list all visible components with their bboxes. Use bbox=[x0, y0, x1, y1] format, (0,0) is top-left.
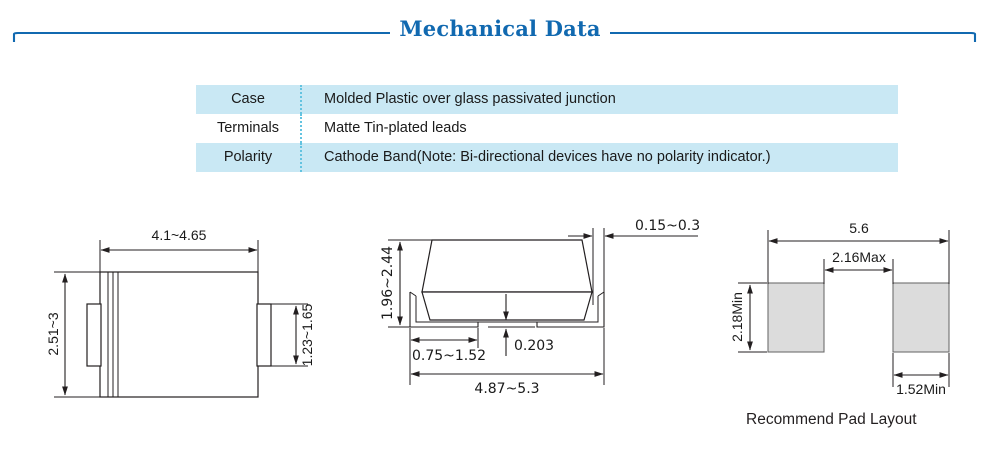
package-side-view-svg: 1.96~2.44 0.15~0.3 0.75~1.52 0.203 4.87~… bbox=[380, 210, 710, 410]
pad-layout-drawing: 5.6 2.16Max 2.18Min 1.52Min Recommend Pa… bbox=[718, 212, 998, 442]
row-label-polarity: Polarity bbox=[196, 143, 301, 172]
table-row: Case Molded Plastic over glass passivate… bbox=[196, 85, 898, 114]
package-side-view-drawing: 1.96~2.44 0.15~0.3 0.75~1.52 0.203 4.87~… bbox=[380, 210, 710, 415]
dim-label-overall-length: 4.87~5.3 bbox=[474, 381, 539, 397]
pad-left bbox=[768, 283, 824, 352]
dim-label-terminal-width: 1.23~1.65 bbox=[299, 303, 315, 366]
row-value-polarity: Cathode Band(Note: Bi-directional device… bbox=[301, 143, 898, 172]
page-title: Mechanical Data bbox=[0, 16, 1000, 41]
pad-layout-caption: Recommend Pad Layout bbox=[746, 411, 917, 428]
dim-label-overall-span: 5.6 bbox=[849, 220, 869, 236]
table-row: Terminals Matte Tin-plated leads bbox=[196, 114, 898, 143]
row-label-case: Case bbox=[196, 85, 301, 114]
terminal-left bbox=[87, 304, 101, 366]
terminal-right bbox=[257, 304, 271, 366]
dim-label-pad-height: 2.18Min bbox=[729, 292, 745, 342]
molded-body-lower bbox=[422, 292, 592, 320]
mechanical-data-table: Case Molded Plastic over glass passivate… bbox=[196, 85, 898, 172]
pad-right bbox=[893, 283, 949, 352]
molded-body-upper bbox=[422, 240, 592, 292]
row-label-terminals: Terminals bbox=[196, 114, 301, 143]
dim-label-standoff: 0.203 bbox=[514, 338, 554, 354]
dim-label-height: 1.96~2.44 bbox=[380, 246, 396, 320]
dim-label-width: 2.51~3 bbox=[45, 312, 61, 355]
package-top-view-drawing: 4.1~4.65 2.51~3 1.23~1.65 bbox=[40, 212, 340, 427]
dim-label-pad-width: 1.52Min bbox=[896, 381, 946, 397]
lead-frame-corner bbox=[410, 292, 416, 296]
package-body bbox=[100, 272, 258, 397]
package-top-view-svg: 4.1~4.65 2.51~3 1.23~1.65 bbox=[40, 212, 340, 422]
pad-layout-svg: 5.6 2.16Max 2.18Min 1.52Min Recommend Pa… bbox=[718, 212, 998, 437]
dim-label-length: 4.1~4.65 bbox=[152, 227, 207, 243]
dim-label-gap: 2.16Max bbox=[832, 249, 886, 265]
row-value-case: Molded Plastic over glass passivated jun… bbox=[301, 85, 898, 114]
table-row: Polarity Cathode Band(Note: Bi-direction… bbox=[196, 143, 898, 172]
lead-frame-corner bbox=[598, 292, 604, 296]
section-header: Mechanical Data bbox=[0, 0, 1000, 62]
dim-label-lead-thickness: 0.15~0.3 bbox=[635, 218, 700, 234]
dim-label-foot-length: 0.75~1.52 bbox=[412, 348, 486, 364]
row-value-terminals: Matte Tin-plated leads bbox=[301, 114, 898, 143]
